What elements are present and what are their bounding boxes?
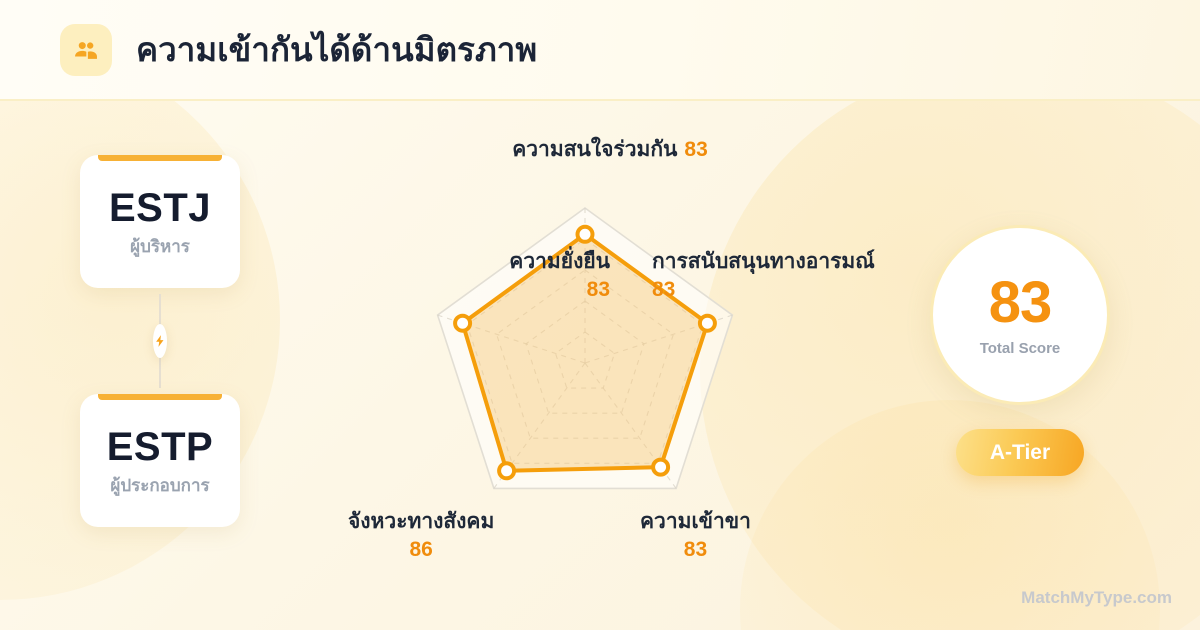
type-connector — [159, 288, 161, 394]
radar-axis-value-2: 83 — [640, 538, 751, 563]
tier-badge: A-Tier — [956, 429, 1084, 476]
radar-chart: ความสนใจร่วมกัน83 การสนับสนุนทางอารมณ์ 8… — [300, 110, 920, 590]
type-card-second[interactable]: ESTP ผู้ประกอบการ — [80, 394, 240, 527]
total-score-value: 83 — [989, 274, 1052, 332]
radar-label-2: ความเข้าขา 83 — [640, 510, 751, 563]
radar-point-0 — [578, 227, 593, 242]
type-code-first: ESTJ — [109, 187, 211, 229]
type-pair-column: ESTJ ผู้บริหาร ESTP ผู้ประกอบการ — [80, 155, 240, 527]
card-accent-bar — [98, 155, 222, 161]
radar-axis-value-3: 86 — [348, 538, 494, 563]
site-watermark: MatchMyType.com — [1021, 588, 1172, 608]
radar-axis-value-0: 83 — [684, 138, 707, 161]
radar-point-4 — [455, 316, 470, 331]
radar-axis-value-1: 83 — [652, 278, 875, 303]
type-name-first: ผู้บริหาร — [130, 238, 190, 257]
radar-axis-label-0: ความสนใจร่วมกัน — [512, 138, 677, 161]
page-header: ความเข้ากันได้ด้านมิตรภาพ — [0, 0, 1200, 101]
radar-axis-label-4: ความยั่งยืน — [509, 250, 610, 273]
card-accent-bar — [98, 394, 222, 400]
total-score-circle: 83 Total Score — [930, 225, 1110, 405]
type-card-first[interactable]: ESTJ ผู้บริหาร — [80, 155, 240, 288]
type-code-second: ESTP — [107, 426, 213, 468]
radar-point-1 — [700, 316, 715, 331]
lightning-bolt-icon — [153, 324, 167, 358]
radar-label-1: การสนับสนุนทางอารมณ์ 83 — [652, 250, 875, 303]
radar-axis-label-2: ความเข้าขา — [640, 510, 751, 533]
radar-label-0: ความสนใจร่วมกัน83 — [512, 138, 708, 163]
page-title: ความเข้ากันได้ด้านมิตรภาพ — [136, 33, 537, 66]
total-score-panel: 83 Total Score A-Tier — [930, 225, 1110, 476]
radar-axis-value-4: 83 — [509, 278, 610, 303]
radar-point-2 — [653, 460, 668, 475]
compatibility-card: ความเข้ากันได้ด้านมิตรภาพ ESTJ ผู้บริหาร… — [0, 0, 1200, 630]
radar-axis-label-1: การสนับสนุนทางอารมณ์ — [652, 250, 875, 273]
bottom-accent-bar — [0, 621, 1200, 630]
people-group-icon — [60, 24, 112, 76]
type-name-second: ผู้ประกอบการ — [110, 477, 209, 496]
radar-axis-label-3: จังหวะทางสังคม — [348, 510, 494, 533]
radar-label-3: จังหวะทางสังคม 86 — [348, 510, 494, 563]
radar-label-4: ความยั่งยืน 83 — [509, 250, 610, 303]
total-score-caption: Total Score — [980, 341, 1061, 356]
radar-point-3 — [499, 463, 514, 478]
